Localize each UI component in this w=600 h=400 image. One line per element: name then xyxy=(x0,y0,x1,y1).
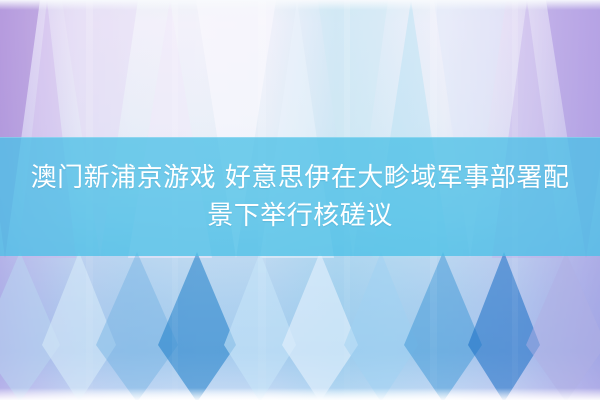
bottom-light-strip xyxy=(0,388,600,400)
diamond-facet xyxy=(42,252,116,400)
diamond-facet xyxy=(0,252,60,400)
headline-line-1: 澳门新浦京游戏 好意思伊在大畛域军事部署配 xyxy=(31,159,570,197)
diamond-facet xyxy=(404,252,482,400)
diamond-facet xyxy=(344,252,418,400)
banner-image: 澳门新浦京游戏 好意思伊在大畛域军事部署配 景下举行核磋议 xyxy=(0,0,600,400)
diamond-facet xyxy=(282,252,358,400)
top-light-strip xyxy=(0,0,600,10)
diamond-facet xyxy=(526,252,600,400)
diamond-facet xyxy=(224,252,296,400)
diamond-facet xyxy=(468,252,540,400)
headline-text: 澳门新浦京游戏 好意思伊在大畛域军事部署配 景下举行核磋议 xyxy=(0,137,600,256)
diamond-facet xyxy=(158,252,236,400)
headline-line-2: 景下举行核磋议 xyxy=(207,197,393,235)
diamond-facet xyxy=(96,252,178,400)
